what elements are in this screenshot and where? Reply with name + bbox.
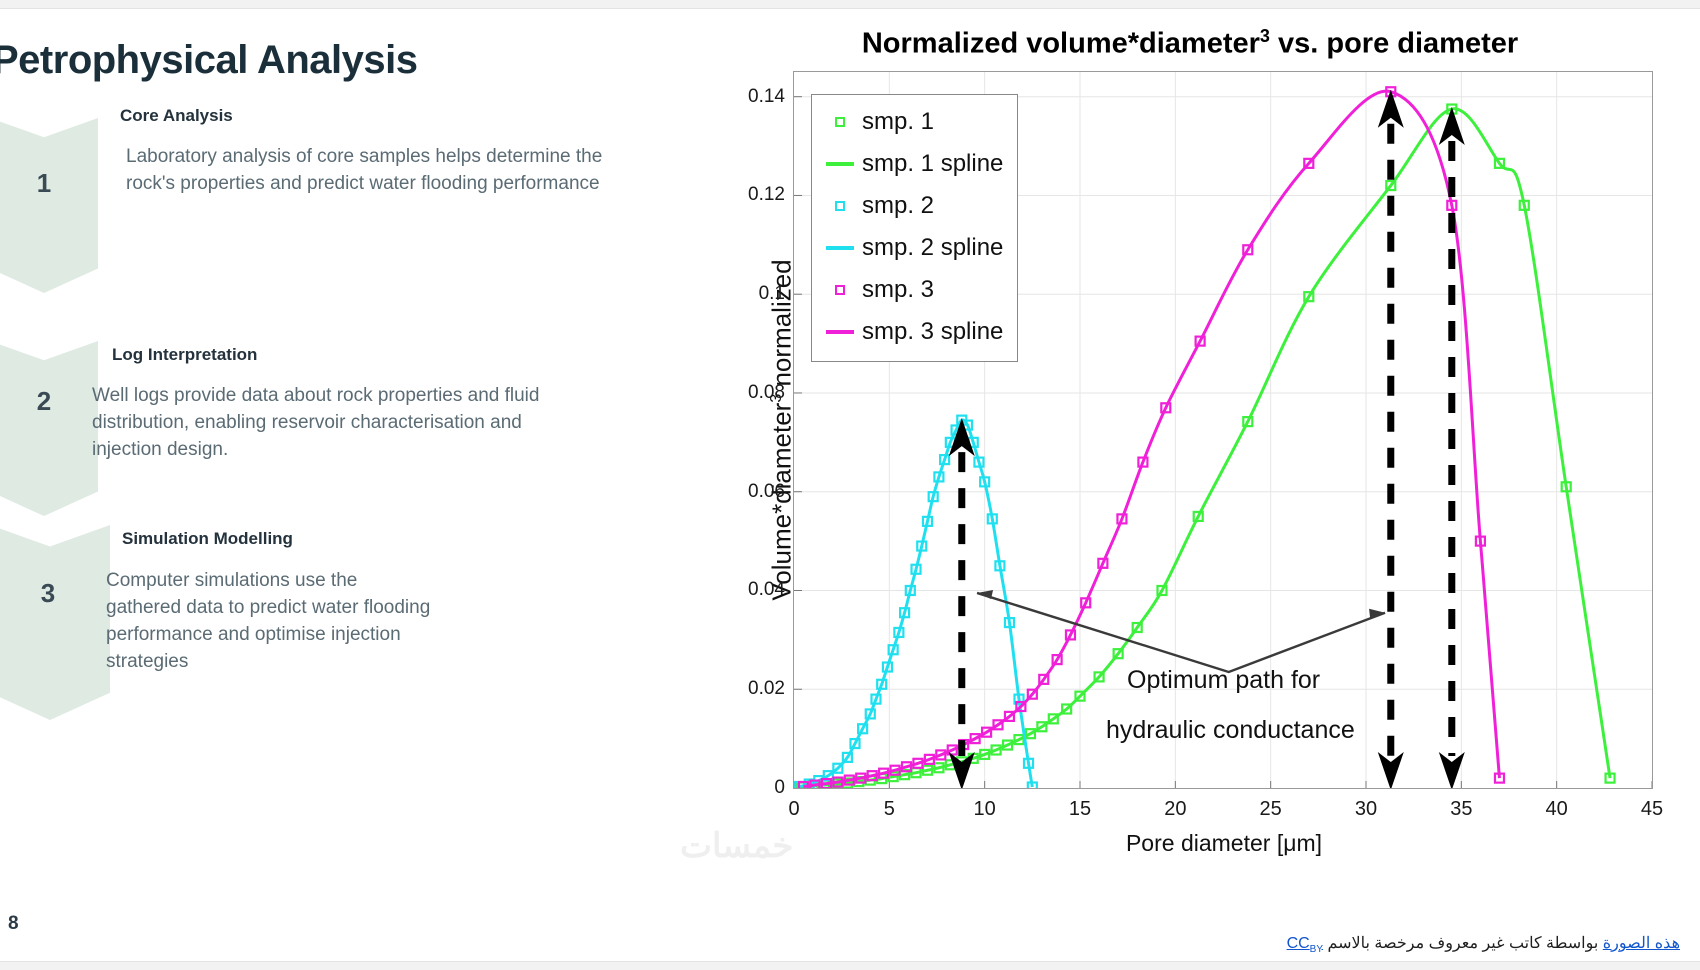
legend-label: smp. 2 xyxy=(862,192,934,220)
legend-label: smp. 2 spline xyxy=(862,234,1003,262)
legend-label: smp. 1 spline xyxy=(862,150,1003,178)
y-tick-label: 0.04 xyxy=(748,579,785,601)
y-axis-label-tail: normalized xyxy=(767,259,797,393)
step-2-number: 2 xyxy=(0,386,98,417)
legend-square-icon xyxy=(835,117,845,127)
step-3-chevron xyxy=(0,525,110,720)
x-tick-label: 25 xyxy=(1260,798,1282,821)
chart-figure: Normalized volume*diameter3 vs. pore dia… xyxy=(700,8,1700,962)
y-tick-label: 0.08 xyxy=(748,382,785,404)
legend-item-4: smp. 3 xyxy=(820,269,1003,311)
step-2-chevron xyxy=(0,341,98,516)
bottom-edge-bar xyxy=(0,961,1700,970)
legend-item-0: smp. 1 xyxy=(820,101,1003,143)
legend-item-3: smp. 2 spline xyxy=(820,227,1003,269)
left-content-panel: Petrophysical Analysis 1 Core Analysis L… xyxy=(0,8,720,962)
y-tick-label: 0.14 xyxy=(748,86,785,108)
y-axis-label: Volume*diameter3 normalized xyxy=(767,259,798,600)
license-code: CC xyxy=(1287,935,1310,952)
legend-label: smp. 3 spline xyxy=(862,318,1003,346)
step-1-body: Laboratory analysis of core samples help… xyxy=(126,144,656,198)
legend-line-icon xyxy=(826,162,854,166)
x-tick-label: 40 xyxy=(1546,798,1568,821)
legend-line-icon xyxy=(826,330,854,334)
step-1-chevron xyxy=(0,118,98,293)
chart-title-base: Normalized volume*diameter xyxy=(862,28,1260,60)
x-axis-label: Pore diameter [μm] xyxy=(794,830,1654,857)
chart-title: Normalized volume*diameter3 vs. pore dia… xyxy=(700,26,1680,61)
step-2-body: Well logs provide data about rock proper… xyxy=(92,383,542,464)
x-tick-label: 45 xyxy=(1641,798,1663,821)
license-sub: BY xyxy=(1310,944,1323,955)
legend-label: smp. 3 xyxy=(862,276,934,304)
attribution-middle: بواسطة كاتب غير معروف مرخصة بالاسم xyxy=(1323,935,1603,952)
step-3-heading: Simulation Modelling xyxy=(122,529,293,549)
x-tick-label: 0 xyxy=(788,798,799,821)
x-tick-label: 10 xyxy=(974,798,996,821)
annotation-optimum-path-line2: hydraulic conductance xyxy=(1106,712,1355,748)
step-1-number: 1 xyxy=(0,168,98,199)
legend-marker xyxy=(820,201,860,211)
x-tick-label: 30 xyxy=(1355,798,1377,821)
x-tick-label: 5 xyxy=(884,798,895,821)
step-3-number: 3 xyxy=(0,578,102,609)
attribution-license[interactable]: CCBY xyxy=(1287,935,1323,952)
slide-number: 8 xyxy=(8,913,19,935)
attribution-link[interactable]: هذه الصورة xyxy=(1603,935,1680,952)
y-tick-label: 0.12 xyxy=(748,184,785,206)
image-attribution: هذه الصورة بواسطة كاتب غير معروف مرخصة ب… xyxy=(1280,933,1680,955)
y-tick-label: 0 xyxy=(774,777,785,799)
legend-marker xyxy=(820,117,860,127)
arrow-head-down-icon xyxy=(1378,752,1404,788)
step-3-body: Computer simulations use the gathered da… xyxy=(106,568,436,676)
legend-square-icon xyxy=(835,285,845,295)
plot-area: Volume*diameter3 normalized Pore diamete… xyxy=(793,71,1653,789)
chart-legend: smp. 1smp. 1 splinesmp. 2smp. 2 splinesm… xyxy=(811,94,1018,362)
legend-square-icon xyxy=(835,201,845,211)
legend-item-1: smp. 1 spline xyxy=(820,143,1003,185)
legend-marker xyxy=(820,162,860,166)
y-tick-label: 0.1 xyxy=(759,283,785,305)
legend-line-icon xyxy=(826,246,854,250)
slide: Petrophysical Analysis 1 Core Analysis L… xyxy=(0,0,1700,970)
annotation-optimum-path-line1: Optimum path for xyxy=(1127,662,1320,698)
legend-marker xyxy=(820,285,860,295)
series-spline-smp-2 xyxy=(800,420,1033,787)
x-tick-label: 15 xyxy=(1069,798,1091,821)
chart-title-superscript: 3 xyxy=(1260,26,1270,46)
legend-label: smp. 1 xyxy=(862,108,934,136)
step-2-heading: Log Interpretation xyxy=(112,345,257,365)
legend-item-5: smp. 3 spline xyxy=(820,311,1003,353)
page-title: Petrophysical Analysis xyxy=(0,38,417,83)
legend-marker xyxy=(820,330,860,334)
x-tick-label: 20 xyxy=(1164,798,1186,821)
chart-title-tail: vs. pore diameter xyxy=(1270,28,1518,60)
legend-marker xyxy=(820,246,860,250)
legend-item-2: smp. 2 xyxy=(820,185,1003,227)
y-tick-label: 0.02 xyxy=(748,678,785,700)
annotation-pointer-line xyxy=(977,593,1385,672)
y-tick-label: 0.06 xyxy=(748,481,785,503)
x-tick-label: 35 xyxy=(1450,798,1472,821)
step-1-heading: Core Analysis xyxy=(120,106,233,126)
